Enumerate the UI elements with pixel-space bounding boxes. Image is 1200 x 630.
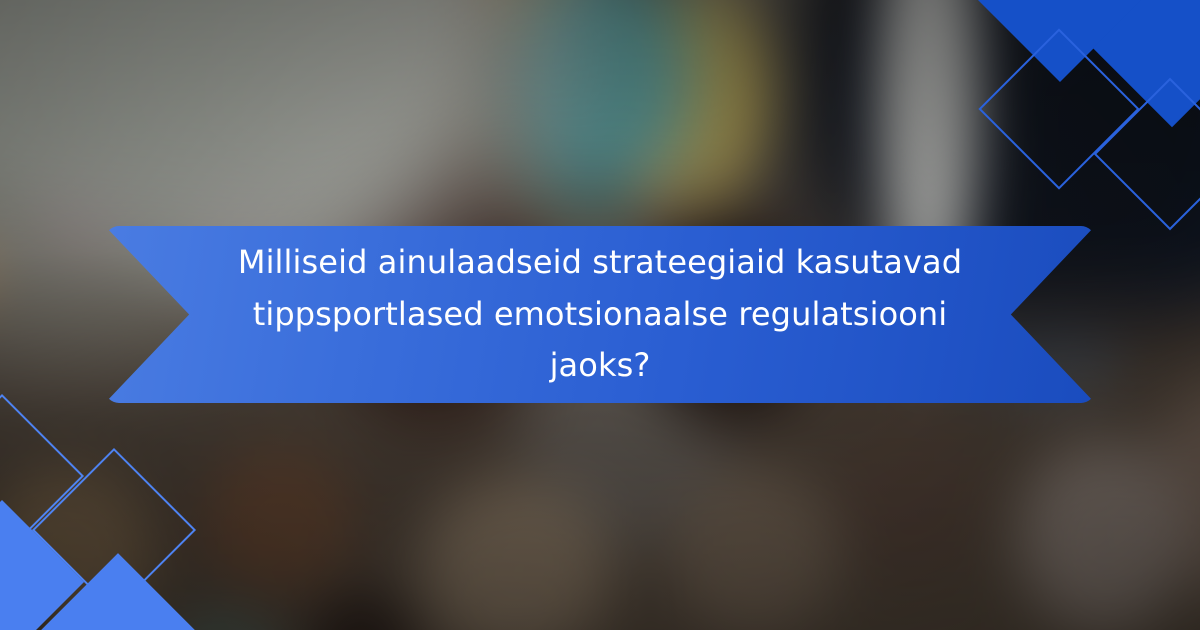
headline-text: Milliseid ainulaadseid strateegiaid kasu… <box>230 237 970 392</box>
ribbon-banner: Milliseid ainulaadseid strateegiaid kasu… <box>105 226 1095 403</box>
share-card-canvas: Milliseid ainulaadseid strateegiaid kasu… <box>0 0 1200 630</box>
diamond-cluster-top-right <box>980 0 1200 200</box>
banner-text-wrap: Milliseid ainulaadseid strateegiaid kasu… <box>230 237 970 392</box>
diamond-cluster-bottom-left <box>0 410 230 630</box>
